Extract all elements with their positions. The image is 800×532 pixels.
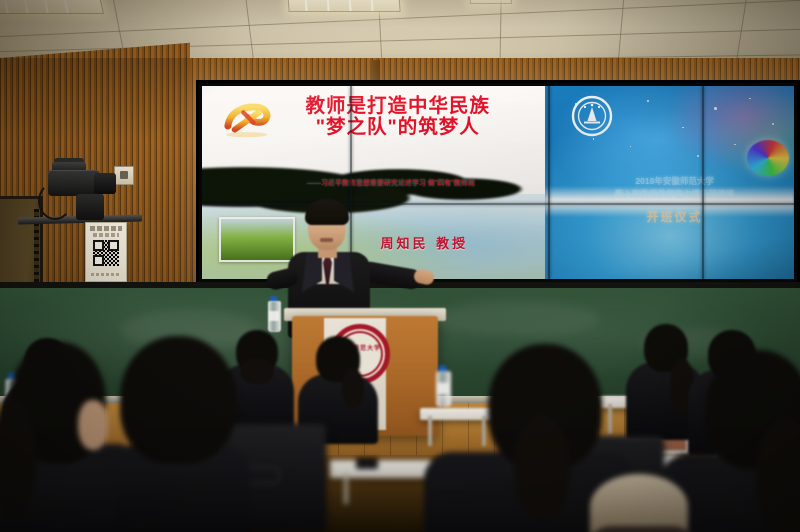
water-bottle[interactable] bbox=[436, 365, 449, 404]
slide-title-line2: "梦之队"的筑梦人 bbox=[260, 117, 535, 139]
right-slide-ceremony-text: 开班仪式 bbox=[560, 208, 789, 225]
poster-heading bbox=[90, 226, 122, 231]
smartphone[interactable] bbox=[356, 458, 378, 469]
video-wall-seam bbox=[702, 86, 704, 279]
right-slide-title: 2018年安徽师范大学 新入职教师教学能力提升研修班 bbox=[560, 175, 789, 201]
poster-subheading bbox=[93, 233, 119, 237]
decorative-globe bbox=[747, 140, 789, 176]
slide-title: 教师是打造中华民族 "梦之队"的筑梦人 bbox=[260, 96, 535, 140]
qr-code-poster[interactable] bbox=[85, 222, 127, 282]
camera-lens-icon bbox=[94, 173, 116, 194]
poster-footer bbox=[91, 273, 121, 276]
student-desk bbox=[420, 408, 494, 420]
wall-mounted-video-camera[interactable] bbox=[44, 160, 120, 222]
qr-code-icon[interactable] bbox=[93, 240, 119, 266]
university-crest-logo bbox=[570, 94, 614, 138]
camera-bracket bbox=[76, 194, 104, 220]
presenter-hair bbox=[305, 199, 349, 225]
water-bottle[interactable] bbox=[268, 296, 279, 330]
lecture-hall-photo: 教师是打造中华民族 "梦之队"的筑梦人 ——习近平教育思想重要研究论述学习 做"… bbox=[0, 0, 800, 532]
right-slide-title-line2: 新入职教师教学能力提升研修班 bbox=[615, 189, 734, 199]
slide-subtitle: ——习近平教育思想重要研究论述学习 做"四有"教师观 bbox=[247, 178, 535, 188]
slide-title-line1: 教师是打造中华民族 bbox=[305, 95, 490, 117]
presentation-slide-right: 2018年安徽师范大学 新入职教师教学能力提升研修班 开班仪式 bbox=[545, 86, 794, 279]
video-wall-seam bbox=[548, 86, 550, 279]
